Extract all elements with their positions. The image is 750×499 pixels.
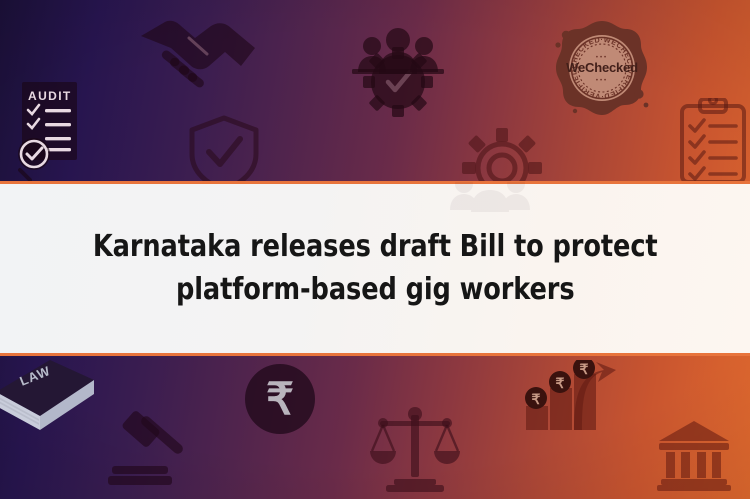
news-graphic-poster: AUDIT bbox=[0, 0, 750, 499]
clipboard-checklist-icon bbox=[676, 98, 750, 186]
svg-text:₹: ₹ bbox=[266, 375, 294, 424]
rupee-coin-icon: ₹ bbox=[243, 362, 317, 436]
people-gear-check-icon bbox=[346, 24, 450, 120]
svg-text:₹: ₹ bbox=[580, 361, 589, 377]
headline-line-1: Karnataka releases draft Bill to protect bbox=[93, 229, 658, 264]
rupee-growth-chart-icon: ₹ ₹ ₹ bbox=[518, 360, 618, 444]
gavel-icon bbox=[100, 404, 196, 486]
law-book-icon: LAW bbox=[0, 358, 100, 434]
courthouse-icon bbox=[657, 419, 731, 491]
svg-text:₹: ₹ bbox=[556, 375, 565, 391]
audit-clipboard-icon: AUDIT bbox=[12, 78, 90, 182]
handshake-icon bbox=[137, 14, 257, 96]
svg-text:AUDIT: AUDIT bbox=[28, 89, 72, 103]
headline-line-2: platform-based gig workers bbox=[176, 272, 575, 307]
svg-text:•••: ••• bbox=[596, 78, 608, 84]
page-title: Karnataka releases draft Bill to protect… bbox=[58, 226, 691, 311]
scales-of-justice-icon bbox=[368, 405, 462, 493]
svg-text:WeChecked: WeChecked bbox=[566, 60, 638, 75]
people-gear-watermark-bleed bbox=[430, 182, 550, 222]
headline-band: Karnataka releases draft Bill to protect… bbox=[0, 181, 750, 356]
wechecked-wax-seal-icon: WECHECKED·WECHECKED VERIFIED·VERIFIED We… bbox=[551, 19, 653, 119]
svg-text:₹: ₹ bbox=[532, 391, 541, 407]
svg-text:•••: ••• bbox=[596, 55, 608, 61]
